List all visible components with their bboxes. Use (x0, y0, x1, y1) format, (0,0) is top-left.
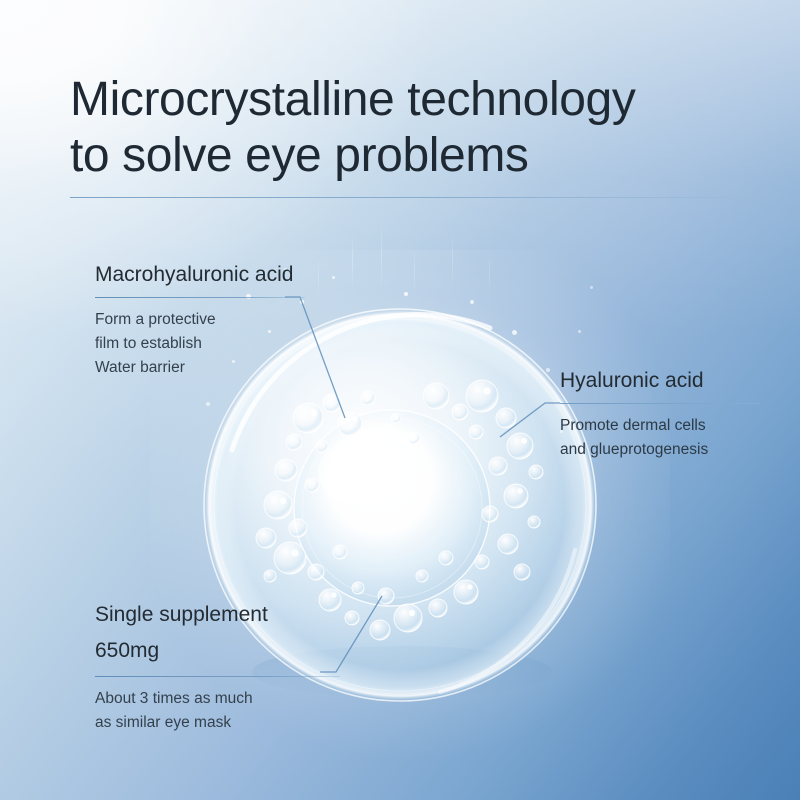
poster-canvas: Microcrystalline technology to solve eye… (0, 0, 800, 800)
callout-title: Single supplement 650mg (95, 597, 340, 669)
callout-hyaluronic-acid: Hyaluronic acid Promote dermal cells and… (560, 366, 760, 462)
callout-body: Promote dermal cells and glueprotogenesi… (560, 414, 760, 462)
callout-title: Hyaluronic acid (560, 366, 760, 396)
callout-divider (95, 297, 305, 298)
callout-divider (95, 676, 340, 677)
headline-divider (70, 197, 730, 198)
callout-body: Form a protective film to establish Wate… (95, 308, 305, 381)
callout-body: About 3 times as much as similar eye mas… (95, 687, 340, 735)
callout-divider (560, 403, 760, 404)
callout-single-supplement: Single supplement 650mg About 3 times as… (95, 597, 340, 736)
callout-macrohyaluronic-acid: Macrohyaluronic acid Form a protective f… (95, 260, 305, 380)
page-title: Microcrystalline technology to solve eye… (70, 72, 750, 183)
callout-title: Macrohyaluronic acid (95, 260, 305, 290)
